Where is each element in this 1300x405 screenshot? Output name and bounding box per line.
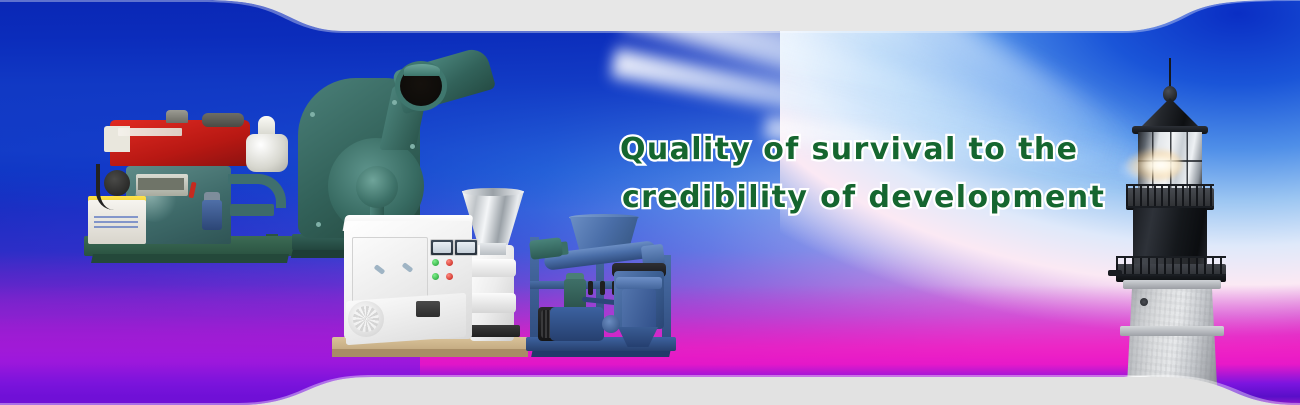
diesel-engine: [78, 108, 308, 283]
lighthouse-lower-railing: [1116, 256, 1226, 276]
blue-machine-coupling: [602, 315, 620, 333]
top-curved-frame-band: [0, 0, 1300, 40]
lighthouse-tower-band: [1120, 326, 1224, 336]
slogan-line-1: Quality of survival to the: [620, 126, 1090, 174]
blue-machine-valve: [600, 281, 605, 295]
blue-machine-valve: [588, 281, 593, 295]
pellet-mill-stop-button[interactable]: [446, 273, 453, 280]
pellet-mill-panel-plate: [416, 301, 440, 317]
pellet-mill-fan-vent: [348, 301, 384, 337]
pellet-mill-start-button[interactable]: [432, 273, 439, 280]
lighthouse-tower-band: [1123, 280, 1221, 289]
lighthouse-lamp-glow: [1126, 148, 1182, 182]
engine-cover-cap: [202, 113, 244, 127]
company-promo-banner: Quality of survival to the credibility o…: [0, 0, 1300, 405]
hammer-mill-bolt: [310, 112, 315, 117]
pellet-mill-press-ring-upper: [468, 259, 516, 277]
blue-machine-die-body: [622, 289, 656, 329]
slogan-line-2: credibility of development: [620, 174, 1090, 222]
slogan-block: Quality of survival to the credibility o…: [620, 126, 1090, 222]
blue-machine-electric-motor: [550, 307, 604, 341]
pellet-mill-discharge-tray: [468, 325, 520, 337]
pellet-mill-hopper-spout: [480, 243, 506, 255]
engine-battery-label: [94, 216, 138, 230]
engine-nameplate-inner: [138, 178, 184, 190]
engine-air-filter: [246, 134, 288, 172]
blue-machine-conveyor-motor: [529, 237, 563, 260]
engine-hose: [96, 164, 122, 210]
engine-pump: [202, 200, 222, 230]
pellet-mill-hopper-rim: [462, 188, 524, 196]
engine-base-frame-side: [91, 254, 289, 263]
lighthouse-upper-railing: [1126, 184, 1214, 208]
lighthouse-gallery-bracket: [1108, 270, 1122, 276]
pellet-mill-gauge: [430, 239, 454, 256]
pellet-mill-access-door: [352, 237, 428, 303]
engine-exhaust-pipe-lower: [230, 204, 274, 216]
hammer-mill-bolt: [392, 100, 397, 105]
blue-machine-die-ring: [616, 277, 662, 289]
pellet-mill-start-button[interactable]: [432, 259, 439, 266]
engine-tank-label: [118, 128, 182, 136]
white-pellet-mill: [330, 185, 535, 370]
lighthouse: [1108, 58, 1248, 405]
engine-fuel-cap: [166, 110, 188, 123]
pellet-mill-pallet-shadow: [332, 349, 528, 357]
lighthouse-tower-vent: [1140, 298, 1148, 306]
hammer-mill-chute-rim: [404, 64, 440, 76]
engine-exhaust-pipe: [228, 174, 286, 208]
hammer-mill-bolt: [410, 144, 415, 149]
bottom-curved-frame-band: [0, 361, 1300, 405]
pellet-mill-stop-button[interactable]: [446, 259, 453, 266]
pellet-mill-gauge: [454, 239, 478, 256]
hammer-mill-bolt: [316, 222, 321, 227]
pellet-mill-press-ring-lower: [468, 293, 516, 313]
